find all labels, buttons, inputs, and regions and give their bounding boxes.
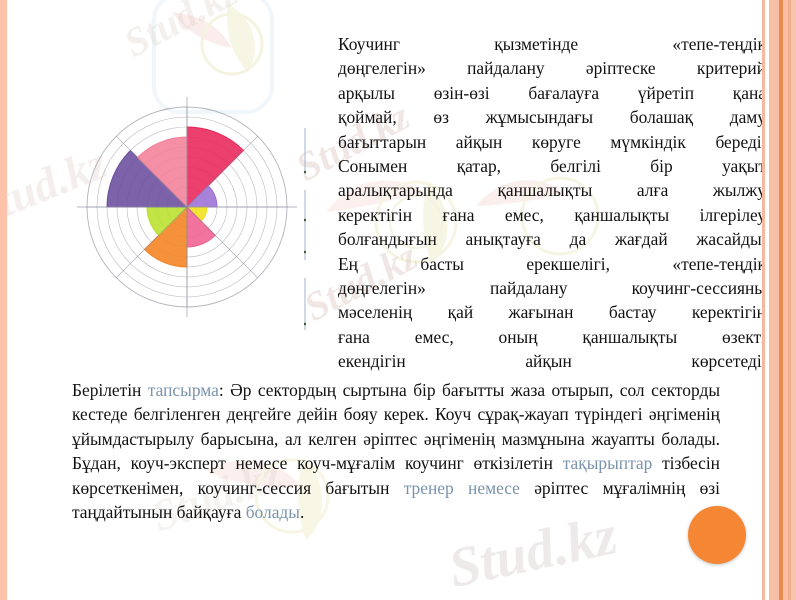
paragraph-top-line: Ең басты ерекшелігі, «тепе-теңдік (338, 252, 766, 276)
paragraph-top-line: дөңгелегін» пайдалану әріптеске критерий (338, 56, 766, 80)
paragraph-top-line: дөңгелегін» пайдалану коучинг-сессияны (338, 276, 766, 300)
paragraph-top-line: Сонымен қатар, белгілі бір уақыт (338, 154, 766, 178)
slide-canvas: Stud.kz Stud.kz Stud.kz Stud.kz Stud.kz … (0, 0, 796, 600)
accent-text: тапсырма (148, 380, 219, 400)
accent-text: тақырыптар (563, 453, 653, 473)
slide-right-border (762, 0, 796, 600)
paragraph-top-line: керектігін ғана емес, қаншалықты ілгеріл… (338, 203, 766, 227)
balance-wheel-chart (76, 96, 298, 318)
paragraph-top-line: ғана емес, оның қаншалықты өзекті (338, 325, 766, 349)
accent-text: болады (246, 502, 300, 522)
border-stripe-7 (791, 0, 796, 600)
slide-left-border (0, 0, 7, 600)
paragraph-top: Коучинг қызметінде «тепе-теңдікдөңгелегі… (338, 32, 766, 374)
paragraph-top-line: арқылы өзін-өзі бағалауға үйретіп қана (338, 81, 766, 105)
wheel-sector (187, 127, 244, 207)
paragraph-top-line: бағыттарын айқын көруге мүмкіндік береді… (338, 130, 766, 154)
body-text: Берілетін (72, 380, 148, 400)
wheel-spokes (77, 97, 297, 317)
body-text: . (300, 502, 304, 522)
paragraph-top-line: екендігін айқын көрсетеді. (338, 349, 766, 373)
paragraph-bottom: Берілетін тапсырма: Әр сектордың сыртына… (72, 378, 720, 524)
paragraph-top-line: аралықтарында қаншалықты алға жылжу (338, 178, 766, 202)
orange-dot-decoration (688, 506, 746, 564)
paragraph-top-line: қоймай, өз жұмысындағы болашақ даму (338, 105, 766, 129)
wheel-sectors (107, 127, 244, 267)
paragraph-top-line: Коучинг қызметінде «тепе-теңдік (338, 32, 766, 56)
paragraph-top-line: болғандығын анықтауға да жағдай жасайды. (338, 227, 766, 251)
accent-text: тренер немесе (404, 478, 520, 498)
balance-wheel-svg (76, 96, 298, 318)
border-stripe-3 (769, 0, 779, 600)
stud-kz-watermark: Stud.kz (116, 0, 245, 67)
paragraph-top-line: мәселенің қай жағынан бастау керектігін (338, 300, 766, 324)
vertical-tick-rule (304, 128, 306, 330)
